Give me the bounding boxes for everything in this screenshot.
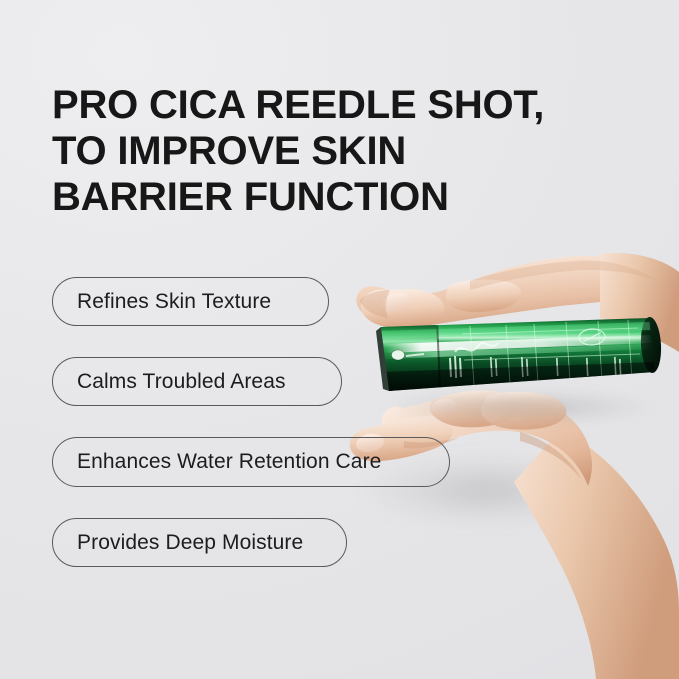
product-tube: [376, 317, 662, 395]
benefit-pill-label: Enhances Water Retention Care: [77, 450, 381, 474]
lower-hand: [350, 390, 679, 679]
product-marketing-graphic: PRO CICA REEDLE SHOT, TO IMPROVE SKIN BA…: [0, 0, 679, 679]
benefit-pill-refines-skin-texture: Refines Skin Texture: [52, 277, 329, 326]
product-in-hands-photo: [0, 0, 679, 679]
tube-contact-shadow: [378, 392, 658, 422]
benefit-pill-calms-troubled-areas: Calms Troubled Areas: [52, 357, 342, 406]
benefit-pill-label: Calms Troubled Areas: [77, 370, 286, 394]
benefit-pill-enhances-water-retention-care: Enhances Water Retention Care: [52, 437, 450, 487]
benefit-pill-label: Provides Deep Moisture: [77, 531, 303, 555]
benefit-pill-provides-deep-moisture: Provides Deep Moisture: [52, 518, 347, 567]
benefit-pill-label: Refines Skin Texture: [77, 290, 271, 314]
